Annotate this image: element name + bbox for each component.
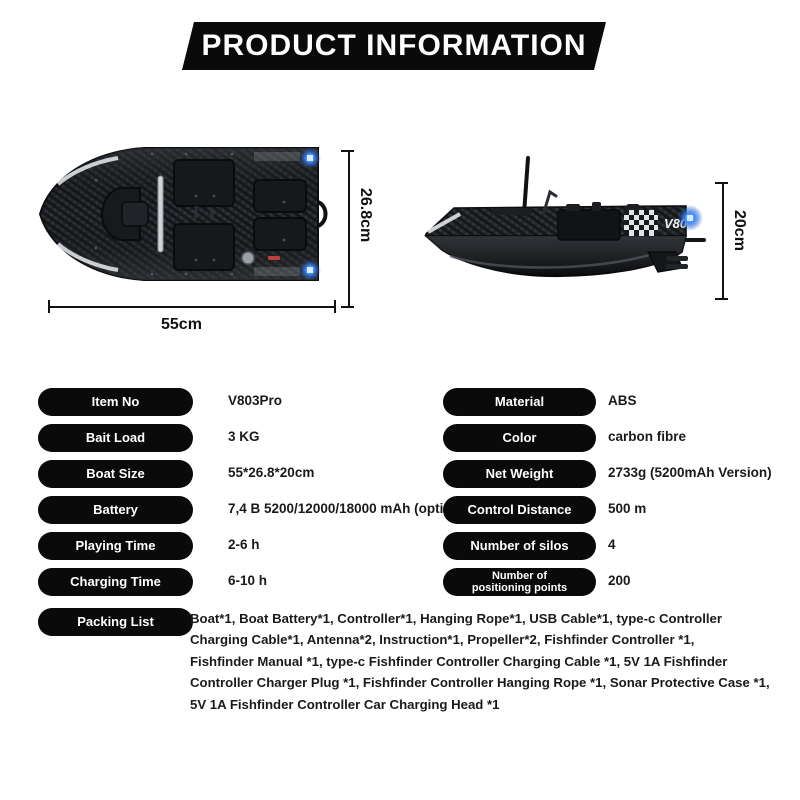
spec-row-boat-size: Boat Size 55*26.8*20cm [38,460,448,496]
dimension-label-length: 55cm [161,316,202,334]
spec-label-control-distance: Control Distance [443,496,596,524]
spec-label-net-weight: Net Weight [443,460,596,488]
boat-top-view-graphic [36,140,336,288]
spec-label-number-of-silos: Number of silos [443,532,596,560]
spec-value-net-weight: 2733g (5200mAh Version) [608,465,772,480]
spec-value-control-distance: 500 m [608,501,646,516]
spec-row-material: Material ABS [443,388,793,424]
spec-row-control-distance: Control Distance 500 m [443,496,793,532]
spec-label-material: Material [443,388,596,416]
spec-value-charging-time: 6-10 h [228,573,267,588]
spec-row-number-of-silos: Number of silos 4 [443,532,793,568]
spec-label-positioning-points: Number of positioning points [443,568,596,596]
spec-label-playing-time: Playing Time [38,532,193,560]
spec-label-charging-time: Charging Time [38,568,193,596]
spec-row-item-no: Item No V803Pro [38,388,448,424]
product-illustrations: V803 26.8cm 55cm [0,110,800,360]
specs-column-left: Item No V803Pro Bait Load 3 KG Boat Size… [38,388,448,604]
spec-row-charging-time: Charging Time 6-10 h [38,568,448,604]
spec-value-material: ABS [608,393,637,408]
spec-value-battery: 7,4 B 5200/12000/18000 mAh (optional) [228,501,476,516]
spec-value-boat-size: 55*26.8*20cm [228,465,314,480]
spec-label-color: Color [443,424,596,452]
spec-label-item-no: Item No [38,388,193,416]
spec-row-bait-load: Bait Load 3 KG [38,424,448,460]
packing-list-label: Packing List [38,608,193,636]
spec-label-boat-size: Boat Size [38,460,193,488]
spec-row-battery: Battery 7,4 B 5200/12000/18000 mAh (opti… [38,496,448,532]
spec-value-positioning-points: 200 [608,573,631,588]
dimension-label-height: 20cm [730,210,748,251]
packing-list-value: Boat*1, Boat Battery*1, Controller*1, Ha… [190,608,798,715]
spec-value-color: carbon fibre [608,429,686,444]
boat-side-view-graphic: V803 [420,152,710,287]
spec-value-item-no: V803Pro [228,393,282,408]
spec-row-positioning-points: Number of positioning points 200 [443,568,793,604]
product-information-page: PRODUCT INFORMATION [0,0,800,800]
boat-side-view: V803 [420,152,710,287]
boat-top-view [36,140,336,288]
spec-row-net-weight: Net Weight 2733g (5200mAh Version) [443,460,793,496]
dimension-label-width: 26.8cm [356,188,374,242]
spec-row-color: Color carbon fibre [443,424,793,460]
spec-value-number-of-silos: 4 [608,537,616,552]
spec-label-bait-load: Bait Load [38,424,193,452]
spec-value-playing-time: 2-6 h [228,537,260,552]
page-title-banner: PRODUCT INFORMATION [188,22,600,70]
spec-label-battery: Battery [38,496,193,524]
spec-row-playing-time: Playing Time 2-6 h [38,532,448,568]
specs-column-right: Material ABS Color carbon fibre Net Weig… [443,388,793,604]
page-title: PRODUCT INFORMATION [188,22,600,70]
spec-value-bait-load: 3 KG [228,429,260,444]
